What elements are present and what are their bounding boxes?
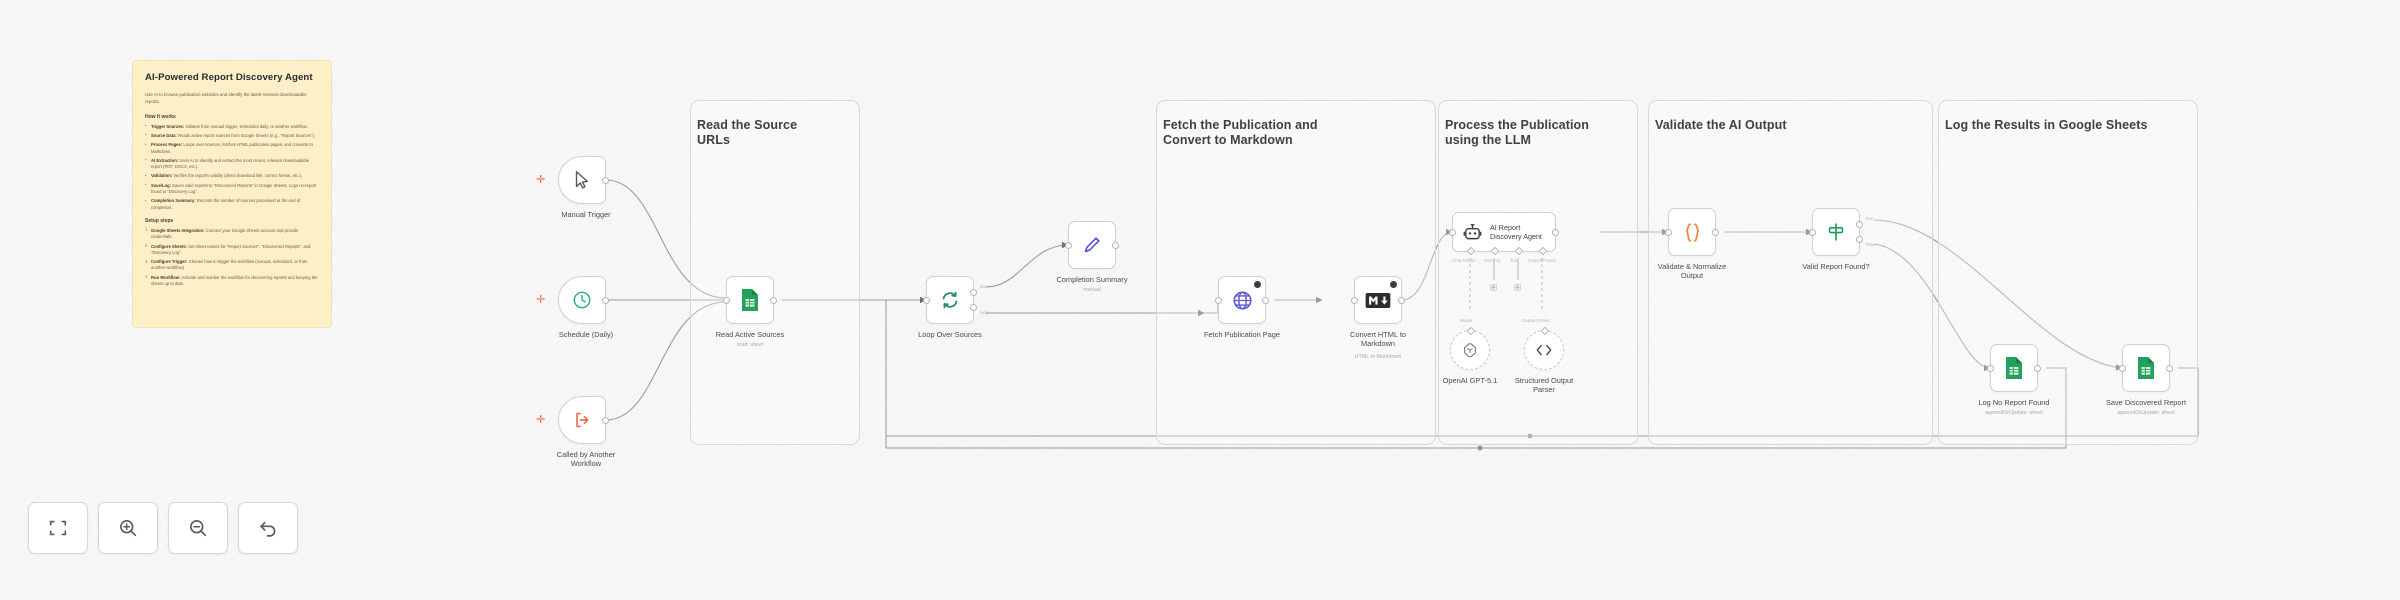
add-node-plus-icon[interactable]: ✛ [536,415,545,426]
completion-summary-box[interactable] [1068,221,1116,269]
output-port[interactable] [770,297,777,304]
fetch-publication-page-box[interactable] [1218,276,1266,324]
input-port[interactable] [1449,229,1456,236]
input-port[interactable] [1665,229,1672,236]
node-openai-gpt[interactable]: Model OpenAI GPT-5.1 [1450,330,1490,370]
cursor-icon [571,169,593,191]
input-port[interactable] [1351,297,1358,304]
output-port[interactable] [2166,365,2173,372]
toolbar-button-reset-zoom[interactable] [238,502,298,554]
node-sublabel: appendOrUpdate: sheet [1949,410,2079,416]
output-tag-loop: loop [980,310,988,315]
node-manual-trigger[interactable]: ✛ Manual Trigger [550,156,606,204]
output-port-false[interactable] [1856,236,1863,243]
sticky-setup-list: Google Sheets Integration: Connect your … [145,228,319,287]
node-label: Validate & Normalize Output [1627,262,1757,281]
edit-pencil-icon [1081,234,1103,256]
output-port[interactable] [1112,242,1119,249]
output-tag-false: false [1866,242,1875,247]
node-sublabel: manual [1027,287,1157,293]
switch-icon [1825,221,1847,243]
sticky-how-item: Validation: Verifies the report's validi… [145,173,319,179]
input-port[interactable] [723,297,730,304]
node-label: Structured Output Parser [1479,376,1609,395]
sticky-how-item: AI Extraction: Uses AI to identify and e… [145,158,319,171]
node-sublabel: HTML to Markdown [1313,354,1443,360]
sticky-setup-heading: Setup steps [145,218,319,224]
ai-agent-box[interactable]: AI Report Discovery Agent [1452,212,1556,252]
sticky-setup-item: Google Sheets Integration: Connect your … [145,228,319,241]
node-schedule-trigger[interactable]: ✛ Schedule (Daily) [550,276,606,324]
node-sublabel: read: sheet [685,342,815,348]
group-log-results[interactable] [1938,100,2198,445]
node-read-active-sources[interactable]: Read Active Sources read: sheet [726,276,774,324]
execute-workflow-icon [571,409,593,431]
input-port[interactable] [1987,365,1994,372]
node-label: Loop Over Sources [885,330,1015,339]
node-label: Read Active Sources [685,330,815,339]
group-title-process-llm: Process the Publication using the LLM [1445,118,1640,149]
sticky-how-list: Trigger Sources: Initiates from manual t… [145,124,319,211]
globe-icon [1231,289,1254,312]
google-sheets-icon [2135,356,2157,380]
output-port[interactable] [1262,297,1269,304]
sticky-how-item: Save/Log: Saves valid reports to "Discov… [145,183,319,196]
node-valid-report-found[interactable]: true false Valid Report Found? [1812,208,1860,256]
node-validate-normalize-output[interactable]: Validate & Normalize Output [1668,208,1716,256]
zoom-in-icon [117,517,139,539]
node-sublabel: appendOrUpdate: sheet [2081,410,2211,416]
model-port-label: Model [1460,318,1472,323]
output-port[interactable] [1552,229,1559,236]
fit-to-view-icon [47,517,69,539]
sticky-how-item: Trigger Sources: Initiates from manual t… [145,124,319,130]
output-port[interactable] [602,177,609,184]
sticky-how-heading: How it works [145,114,319,120]
input-port[interactable] [923,297,930,304]
output-port[interactable] [602,297,609,304]
node-label: Log No Report Found [1949,398,2079,407]
sticky-lead: Use AI to browse publication websites an… [145,92,319,106]
sub-connector-lines [1452,252,1572,322]
schedule-trigger-box[interactable] [558,276,606,324]
node-label: Convert HTML to Markdown [1313,330,1443,349]
convert-markdown-box[interactable] [1354,276,1402,324]
node-log-no-report-found[interactable]: Log No Report Found appendOrUpdate: shee… [1990,344,2038,392]
group-title-fetch-convert: Fetch the Publication and Convert to Mar… [1163,118,1433,149]
node-label: AI Report Discovery Agent [1490,223,1542,242]
sticky-setup-item: Configure Sheets: Set sheet names for "R… [145,244,319,257]
group-read-source-urls[interactable] [690,100,860,445]
node-label: Save Discovered Report [2081,398,2211,407]
undo-arrow-icon [257,517,279,539]
toolbar-button-zoom-out[interactable] [168,502,228,554]
curly-braces-icon [1682,221,1703,244]
log-no-report-box[interactable] [1990,344,2038,392]
output-port[interactable] [602,417,609,424]
pin-data-icon [1390,281,1397,288]
output-tag-done: done [980,284,990,289]
input-port[interactable] [2119,365,2126,372]
manual-trigger-box[interactable] [558,156,606,204]
output-port-done[interactable] [970,289,977,296]
add-node-plus-icon[interactable]: ✛ [536,295,545,306]
google-sheets-icon [739,288,761,312]
node-structured-output-parser[interactable]: Output Parser Structured Output Parser [1524,330,1564,370]
openai-icon [1461,341,1479,359]
tool-stub-icon[interactable]: ✛ [1514,284,1521,291]
input-port[interactable] [1809,229,1816,236]
markdown-icon [1365,292,1391,309]
node-completion-summary[interactable]: Completion Summary manual [1068,221,1116,269]
clock-icon [571,289,593,311]
group-fetch-convert[interactable] [1156,100,1436,445]
pin-data-icon [1254,281,1261,288]
node-label: Valid Report Found? [1771,262,1901,271]
memory-stub-icon[interactable]: ✛ [1490,284,1497,291]
output-port[interactable] [1712,229,1719,236]
loop-icon [939,289,961,311]
zoom-out-icon [187,517,209,539]
structured-output-parser-box[interactable] [1524,330,1564,370]
read-active-sources-box[interactable] [726,276,774,324]
workflow-trigger-box[interactable] [558,396,606,444]
node-label: Completion Summary [1027,275,1157,284]
group-title-validate-ai-output: Validate the AI Output [1655,118,1930,133]
node-loop-over-sources[interactable]: done loop Loop Over Sources [926,276,974,324]
validate-output-box[interactable] [1668,208,1716,256]
node-label: Manual Trigger [521,210,651,219]
add-node-plus-icon[interactable]: ✛ [536,175,545,186]
valid-report-if-box[interactable] [1812,208,1860,256]
sticky-setup-item: Run Workflow: Activate and monitor the w… [145,275,319,288]
node-convert-html-to-markdown[interactable]: Convert HTML to Markdown HTML to Markdow… [1354,276,1402,324]
input-port[interactable] [1215,297,1222,304]
save-discovered-report-box[interactable] [2122,344,2170,392]
node-label: Called by Another Workflow [521,450,651,469]
node-save-discovered-report[interactable]: Save Discovered Report appendOrUpdate: s… [2122,344,2170,392]
node-label: Fetch Publication Page [1177,330,1307,339]
sticky-setup-item: Configure Trigger: Choose how to trigger… [145,259,319,272]
output-port[interactable] [2034,365,2041,372]
openai-model-box[interactable] [1450,330,1490,370]
output-port-loop[interactable] [970,304,977,311]
loop-over-sources-box[interactable] [926,276,974,324]
node-ai-report-discovery-agent[interactable]: AI Report Discovery Agent Chat Model Mem… [1452,212,1556,252]
output-port[interactable] [1398,297,1405,304]
sticky-how-item: Process Pages: Loops over sources, fetch… [145,142,319,155]
output-parser-port-label: Output Parser [1522,318,1549,323]
toolbar-button-fit-view[interactable] [28,502,88,554]
group-title-read-source-urls: Read the Source URLs [697,118,857,149]
robot-icon [1462,222,1483,243]
google-sheets-icon [2003,356,2025,380]
sticky-how-item: Completion Summary: Records the number o… [145,198,319,211]
sticky-how-item: Source Data: Reads active report sources… [145,133,319,139]
node-fetch-publication-page[interactable]: Fetch Publication Page [1218,276,1266,324]
group-title-log-results: Log the Results in Google Sheets [1945,118,2195,133]
sticky-note[interactable]: AI-Powered Report Discovery Agent Use AI… [132,60,332,328]
input-port[interactable] [1065,242,1072,249]
sticky-title: AI-Powered Report Discovery Agent [145,72,319,83]
output-tag-true: true [1866,216,1874,221]
node-label: Schedule (Daily) [521,330,651,339]
node-called-by-another-workflow[interactable]: ✛ Called by Another Workflow [550,396,606,444]
workflow-canvas[interactable]: AI-Powered Report Discovery Agent Use AI… [0,0,2400,600]
code-brackets-icon [1534,342,1554,358]
toolbar-button-zoom-in[interactable] [98,502,158,554]
